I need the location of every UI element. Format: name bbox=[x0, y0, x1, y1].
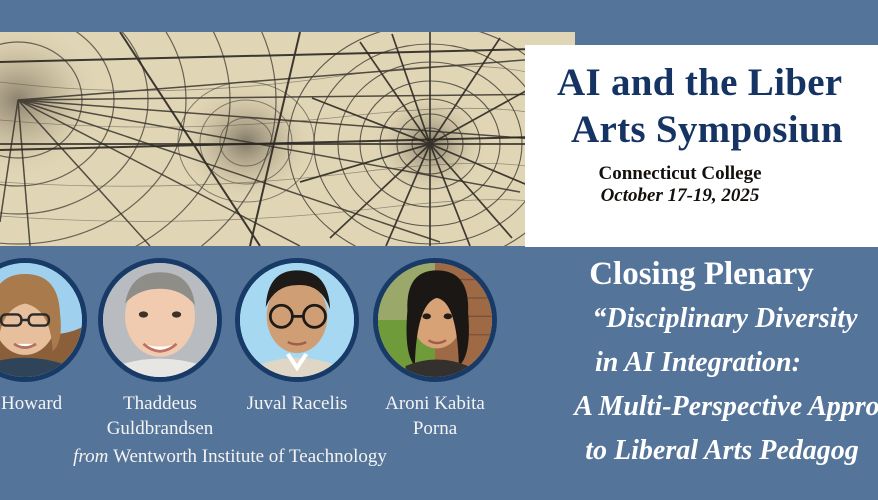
speaker-name: Juval Racelis bbox=[228, 391, 366, 416]
avatar-howard bbox=[0, 258, 87, 382]
speaker-list: a Howard Thad bbox=[0, 247, 525, 500]
speaker-name: Thaddeus Guldbrandsen bbox=[91, 391, 229, 441]
speaker-card: Aroni Kabita Porna bbox=[366, 258, 504, 441]
plenary-talk-title: “Disciplinary Diversity in AI Integratio… bbox=[521, 297, 878, 473]
speaker-card: Thaddeus Guldbrandsen bbox=[91, 258, 229, 441]
title-card: AI and the Liber Arts Symposiun Connecti… bbox=[525, 45, 878, 247]
title-line-1: AI and the Liber bbox=[557, 59, 878, 106]
plenary-heading: Closing Plenary bbox=[525, 254, 878, 294]
plenary-block: Closing Plenary “Disciplinary Diversity … bbox=[525, 247, 878, 500]
speaker-name: a Howard bbox=[0, 391, 94, 416]
lower-region: a Howard Thad bbox=[0, 247, 878, 500]
speaker-name: Aroni Kabita Porna bbox=[366, 391, 504, 441]
affiliation-name: Wentworth Institute of Teachnology bbox=[113, 446, 387, 467]
talk-line-4: to Liberal Arts Pedagog bbox=[563, 429, 878, 473]
spiderweb-photograph bbox=[0, 32, 575, 246]
speaker-card: Juval Racelis bbox=[228, 258, 366, 416]
avatar-porna bbox=[373, 258, 497, 382]
speaker-card: a Howard bbox=[0, 258, 94, 416]
affiliation-label: from Wentworth Institute of Teachnology bbox=[0, 445, 460, 469]
banner-region: AI and the Liber Arts Symposiun Connecti… bbox=[0, 0, 878, 247]
avatar-racelis bbox=[235, 258, 359, 382]
avatar-guldbrandsen bbox=[98, 258, 222, 382]
page-title: AI and the Liber Arts Symposiun bbox=[557, 59, 878, 153]
affiliation-prefix: from bbox=[73, 446, 113, 467]
talk-line-2: in AI Integration: bbox=[515, 341, 878, 385]
symposium-poster: AI and the Liber Arts Symposiun Connecti… bbox=[0, 0, 878, 500]
title-line-2: Arts Symposiun bbox=[557, 106, 878, 153]
venue-label: Connecticut College bbox=[525, 163, 835, 185]
talk-line-1: “Disciplinary Diversity bbox=[569, 297, 878, 341]
talk-line-3: A Multi-Perspective Appro bbox=[573, 385, 878, 429]
event-dates: October 17-19, 2025 bbox=[525, 185, 835, 207]
